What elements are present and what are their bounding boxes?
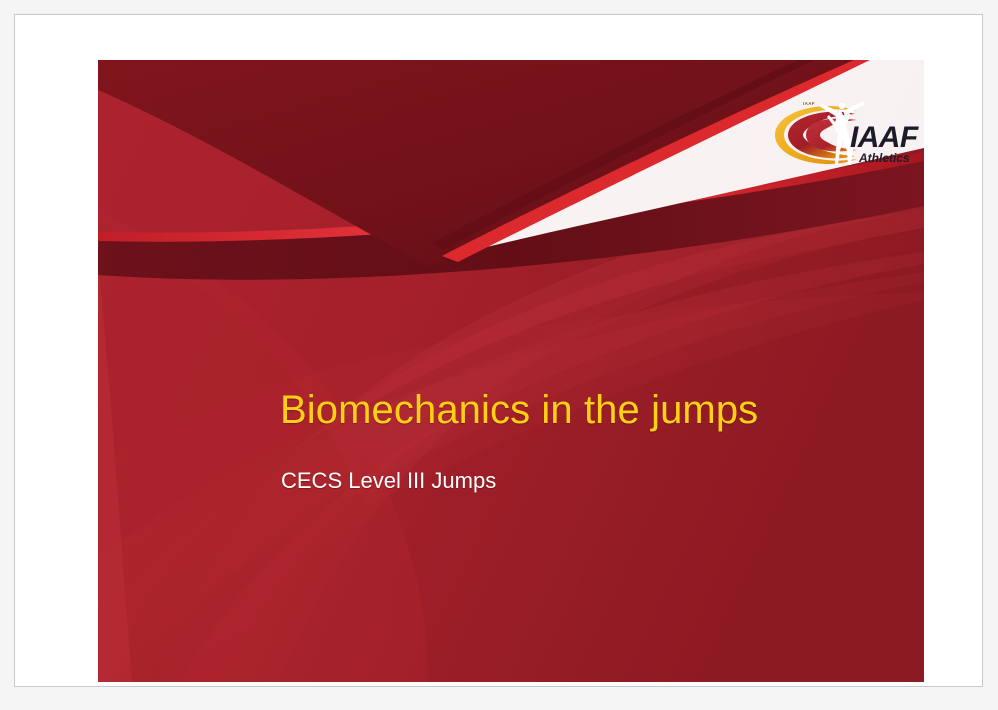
- screenshot-viewport: Biomechanics in the jumps CECS Level III…: [0, 0, 998, 710]
- logo-wordmark: IAAF: [850, 121, 919, 154]
- iaaf-athletics-logo[interactable]: IAAF IAAF At: [767, 95, 919, 175]
- slide-subtitle[interactable]: CECS Level III Jumps: [281, 468, 496, 494]
- document-page: Biomechanics in the jumps CECS Level III…: [14, 14, 983, 687]
- logo-microtext: IAAF: [803, 101, 815, 106]
- slide-title[interactable]: Biomechanics in the jumps: [280, 387, 758, 433]
- presentation-slide[interactable]: Biomechanics in the jumps CECS Level III…: [98, 60, 924, 682]
- logo-tagline: Athletics: [858, 151, 910, 165]
- iaaf-logo-graphic: IAAF IAAF At: [767, 95, 919, 175]
